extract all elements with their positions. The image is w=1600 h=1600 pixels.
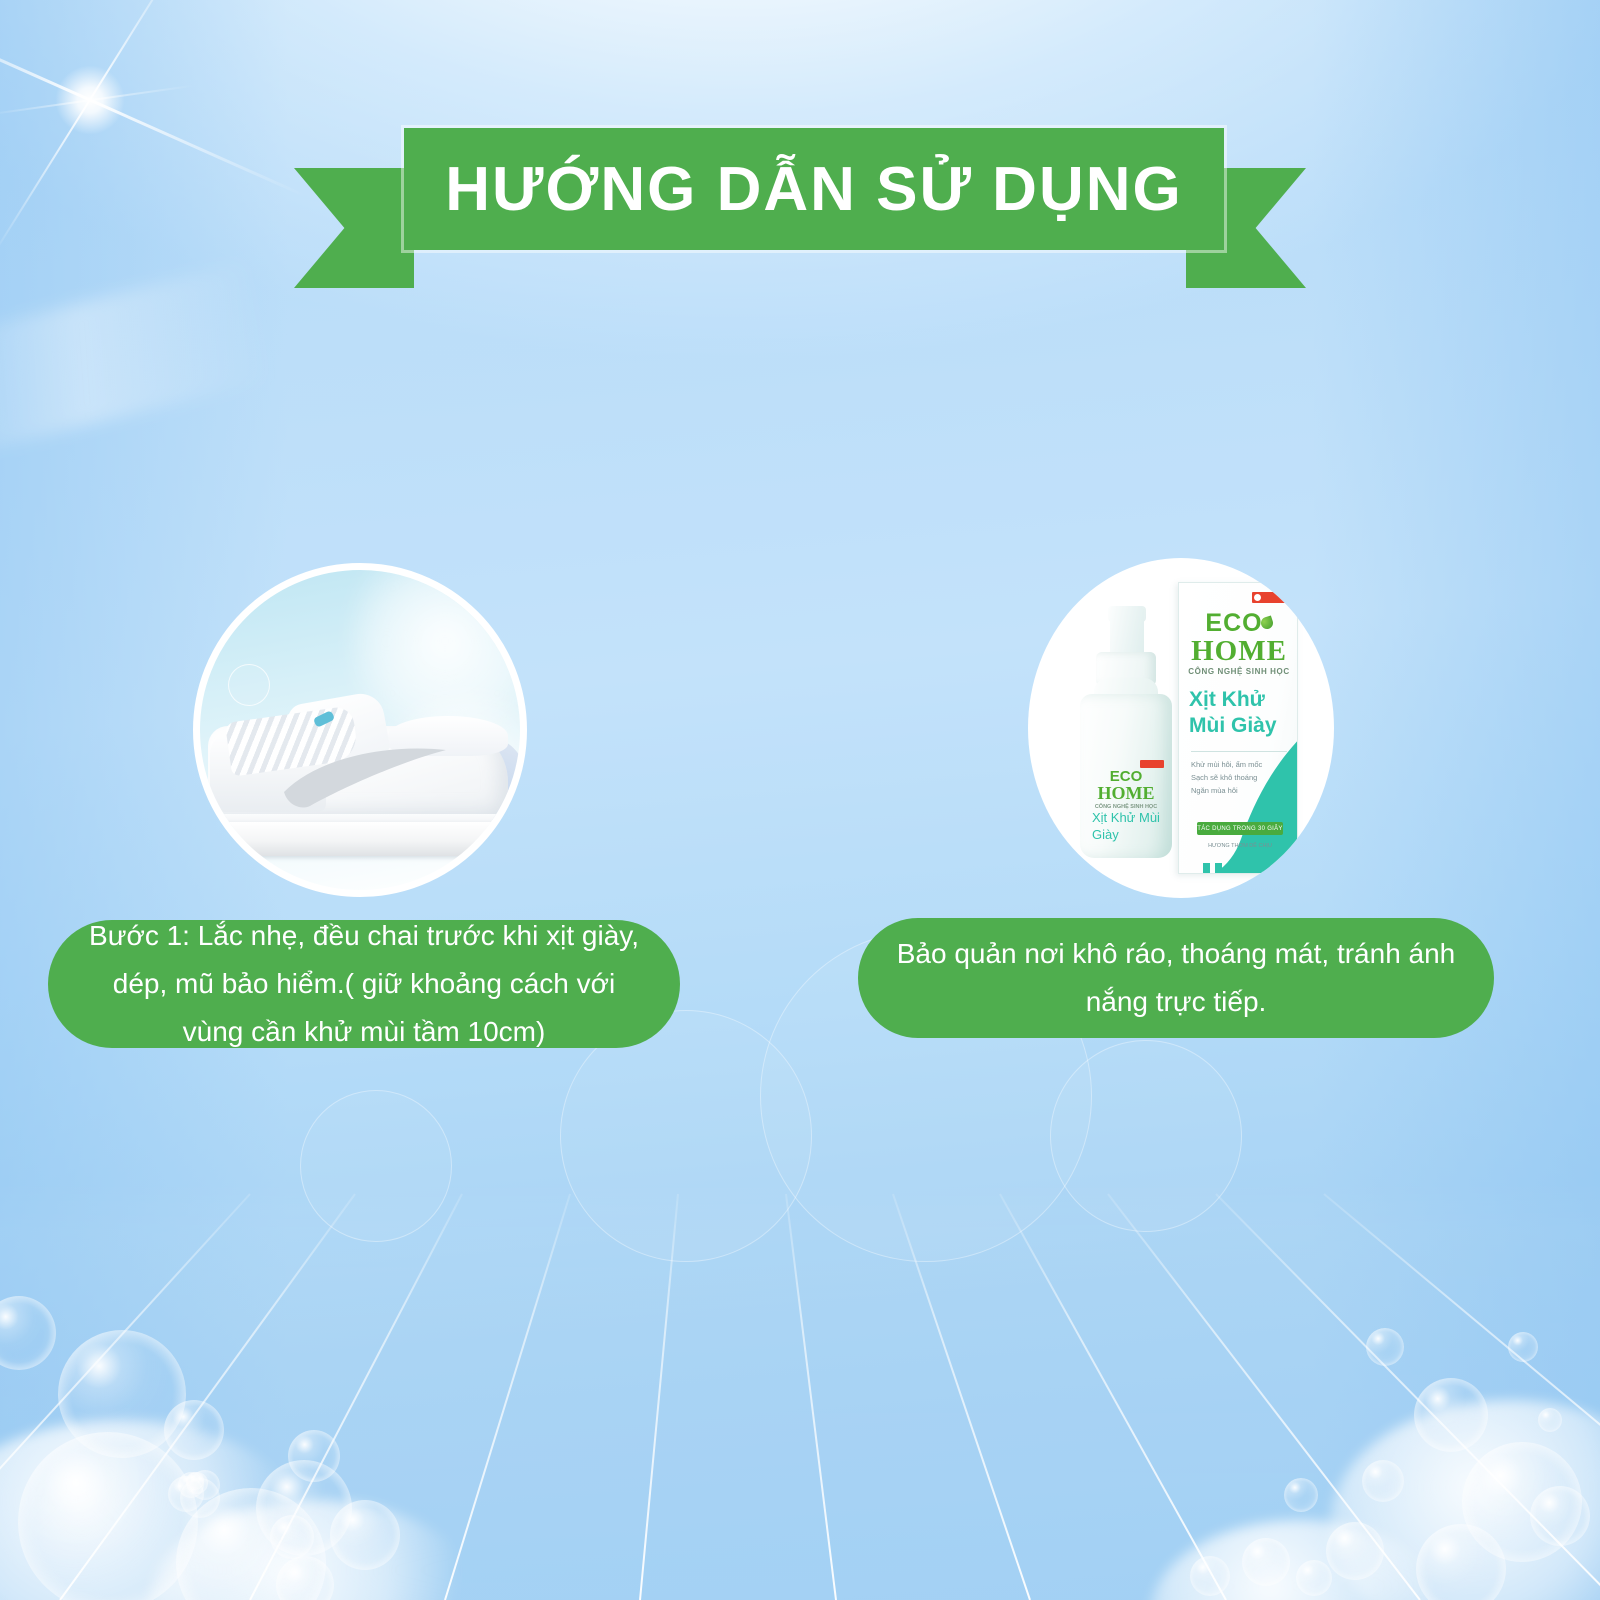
box-brand-home: HOME: [1187, 637, 1291, 666]
box-brand-eco: ECO: [1187, 611, 1291, 636]
bottle-tagline: CÔNG NGHỆ SINH HỌC: [1088, 804, 1164, 810]
box-tagline: CÔNG NGHỆ SINH HỌC: [1187, 667, 1291, 676]
title-ribbon-banner: HƯỚNG DẪN SỬ DỤNG: [280, 110, 1320, 310]
box-zigzag-graphic: [1203, 863, 1295, 873]
bottle-brand-home: HOME: [1088, 784, 1164, 802]
poster-canvas: HƯỚNG DẪN SỬ DỤNG ECO: [0, 0, 1600, 1600]
product-illustration: ECO HOME CÔNG NGHỆ SINH HỌC Xịt Khử Mùi …: [1028, 558, 1334, 898]
divider: [1191, 751, 1287, 752]
perspective-grid-floor: [0, 1180, 1600, 1600]
page-title: HƯỚNG DẪN SỬ DỤNG: [404, 128, 1224, 250]
box-wave-graphic: [1178, 733, 1298, 874]
caption-storage: Bảo quản nơi khô ráo, thoáng mát, tránh …: [858, 918, 1494, 1038]
bottle-brand-eco: ECO: [1088, 769, 1164, 784]
ribbon-tail-left: [294, 168, 414, 288]
certification-badge-icon: [1252, 592, 1290, 603]
box-badge-subtext: HƯƠNG THƠM DỄ CHỊU: [1197, 843, 1283, 849]
spray-bottle: ECO HOME CÔNG NGHỆ SINH HỌC Xịt Khử Mùi …: [1080, 606, 1172, 858]
bottle-product-name: Xịt Khử Mùi Giày: [1092, 810, 1166, 844]
spray-nozzle-icon: [1110, 606, 1144, 658]
box-product-name: Xịt Khử Mùi Giày: [1189, 687, 1293, 740]
sneaker-photo-circle: [193, 563, 527, 897]
caption-step-1: Bước 1: Lắc nhẹ, đều chai trước khi xịt …: [48, 920, 680, 1048]
product-box: ECO HOME CÔNG NGHỆ SINH HỌC Xịt Khử Mùi …: [1178, 582, 1298, 874]
bottle-badge-icon: [1140, 760, 1164, 768]
product-photo-circle: ECO HOME CÔNG NGHỆ SINH HỌC Xịt Khử Mùi …: [1028, 558, 1334, 898]
box-effect-badge: TÁC DỤNG TRONG 30 GIÂY: [1197, 822, 1283, 835]
sneaker-illustration: [194, 674, 527, 864]
